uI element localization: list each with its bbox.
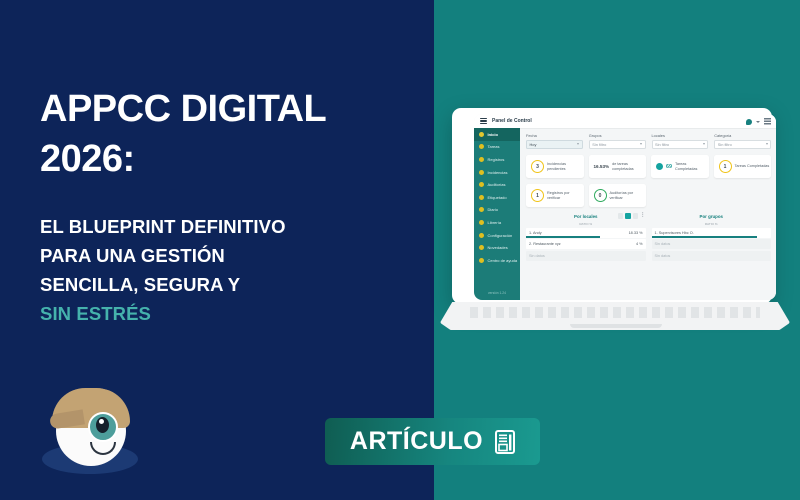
- labeling-icon: [479, 195, 484, 200]
- headline-line-2: 2026:: [40, 134, 420, 184]
- table-row[interactable]: 1. Supervisores Hbc O.: [652, 228, 772, 238]
- table-row[interactable]: 1. Andy 18.33 %: [526, 228, 646, 238]
- table-row-empty: Sin datos: [652, 239, 772, 249]
- records-icon: [479, 157, 484, 162]
- kpi-value: 0: [594, 189, 607, 202]
- panel-toolbar: ⋮: [618, 213, 646, 219]
- article-document-icon: [495, 430, 515, 454]
- help-icon: [479, 258, 484, 263]
- subheadline: EL BLUEPRINT DEFINITIVO PARA UNA GESTIÓN…: [40, 212, 400, 328]
- filter-select[interactable]: Sin filtro: [714, 140, 771, 150]
- chevron-down-icon: [577, 143, 579, 145]
- table-row[interactable]: 2. Restaurante xyz 4 %: [526, 239, 646, 249]
- row-label: 2. Restaurante xyz: [529, 242, 561, 246]
- dashboard-sidebar: Inicio Tareas Registros Incidencias: [474, 128, 520, 300]
- sidebar-item-inicio[interactable]: Inicio: [474, 128, 520, 141]
- sidebar-item-tareas[interactable]: Tareas: [474, 141, 520, 154]
- chevron-down-icon: [703, 143, 705, 145]
- chevron-down-icon[interactable]: [756, 121, 760, 123]
- panel-subtitle: RATIO %: [526, 222, 646, 226]
- filter-value: Sin filtro: [655, 142, 669, 147]
- laptop-mockup: Panel de Control Inicio: [440, 108, 790, 333]
- sidebar-item-label: Configuración: [488, 233, 513, 238]
- laptop-keyboard: [470, 307, 760, 318]
- sidebar-item-label: Registros: [488, 157, 505, 162]
- kpi-label: de tareas completadas: [612, 162, 646, 172]
- kpi-row-1: 3 Incidencias pendientes 16.53% de tarea…: [526, 155, 771, 178]
- sidebar-item-incidencias[interactable]: Incidencias: [474, 166, 520, 179]
- kpi-card-registros-por-verificar[interactable]: 1 Registros por verificar: [526, 184, 584, 207]
- sidebar-item-libreria[interactable]: Librería: [474, 216, 520, 229]
- filter-label: Fecha: [526, 133, 583, 138]
- kpi-value: 69: [666, 164, 672, 170]
- row-value: 4 %: [636, 242, 643, 246]
- bar-chart-icon[interactable]: [625, 213, 631, 219]
- library-icon: [479, 220, 484, 225]
- panel-por-locales: Por locales ⋮ RATIO %: [526, 214, 646, 262]
- sidebar-item-auditorias[interactable]: Auditorías: [474, 178, 520, 191]
- mascot-glint: [99, 419, 104, 424]
- sidebar-item-label: Novedades: [488, 245, 508, 250]
- filter-value: Sin filtro: [718, 142, 732, 147]
- subheadline-accent: SIN ESTRÉS: [40, 299, 400, 328]
- laptop-screen: Panel de Control Inicio: [474, 114, 776, 300]
- kpi-label: Incidencias pendientes: [547, 162, 584, 172]
- sidebar-item-label: Inicio: [488, 132, 498, 137]
- panel-por-grupos: Por grupos RATIO % 1. Supervisores Hbc O…: [652, 214, 772, 262]
- filter-grupos: Grupos Sin filtro: [589, 133, 646, 149]
- sidebar-item-label: Centro de ayuda: [488, 258, 518, 263]
- diary-icon: [479, 207, 484, 212]
- sidebar-item-novedades[interactable]: Novedades: [474, 241, 520, 254]
- kpi-label: Tareas Completadas: [675, 162, 709, 172]
- gear-icon: [479, 233, 484, 238]
- promo-banner: APPCC DIGITAL 2026: EL BLUEPRINT DEFINIT…: [0, 0, 800, 500]
- kpi-label: Auditorías por verificar: [610, 191, 647, 201]
- kpi-card-auditorias-por-verificar[interactable]: 0 Auditorías por verificar: [589, 184, 647, 207]
- filter-value: Hoy: [530, 142, 537, 147]
- panel-subtitle: RATIO %: [652, 222, 772, 226]
- headline: APPCC DIGITAL 2026:: [40, 84, 420, 184]
- headline-line-1: APPCC DIGITAL: [40, 84, 420, 134]
- dashboard-topbar: Panel de Control: [474, 114, 776, 129]
- laptop-lid: Panel de Control Inicio: [452, 108, 772, 304]
- filter-label: Grupos: [589, 133, 646, 138]
- table-row-empty: Sin datos: [526, 251, 646, 261]
- expand-icon[interactable]: [618, 213, 624, 219]
- panel-title-wrap: Por locales ⋮: [526, 214, 646, 220]
- tasks-icon: [479, 144, 484, 149]
- row-value: 18.33 %: [629, 231, 643, 235]
- filter-label: Locales: [652, 133, 709, 138]
- filter-value: Sin filtro: [592, 142, 606, 147]
- filter-fecha: Fecha Hoy: [526, 133, 583, 149]
- hamburger-menu-icon[interactable]: [480, 118, 487, 124]
- chevron-down-icon: [640, 143, 642, 145]
- topbar-actions: [746, 118, 771, 125]
- table-icon[interactable]: [633, 213, 639, 219]
- sidebar-item-configuracion[interactable]: Configuración: [474, 229, 520, 242]
- dashboard-title: Panel de Control: [492, 118, 532, 124]
- phone-support-icon[interactable]: [746, 119, 752, 125]
- sidebar-item-label: Librería: [488, 220, 502, 225]
- sidebar-item-registros[interactable]: Registros: [474, 153, 520, 166]
- filter-locales: Locales Sin filtro: [652, 133, 709, 149]
- row-bar: [652, 236, 757, 237]
- more-options-icon[interactable]: ⋮: [640, 213, 646, 219]
- filter-select[interactable]: Sin filtro: [652, 140, 709, 150]
- filter-select[interactable]: Sin filtro: [589, 140, 646, 150]
- sidebar-item-etiquetado[interactable]: Etiquetado: [474, 191, 520, 204]
- dashboard: Panel de Control Inicio: [474, 114, 776, 300]
- chart-panels: Por locales ⋮ RATIO %: [526, 214, 771, 262]
- chevron-down-icon: [766, 143, 768, 145]
- kpi-value: 1: [531, 189, 544, 202]
- subheadline-line-2: PARA UNA GESTIÓN: [40, 241, 400, 270]
- kpi-label: Tareas Completadas: [735, 164, 770, 169]
- row-label: Sin datos: [529, 254, 545, 258]
- panel-title: Por grupos: [700, 214, 723, 219]
- filter-categoria: Categoría Sin filtro: [714, 133, 771, 149]
- row-label: Sin datos: [655, 254, 671, 258]
- kpi-card-extra[interactable]: 1 Tareas Completadas: [714, 155, 772, 178]
- incidents-icon: [479, 170, 484, 175]
- sidebar-item-label: Tareas: [488, 144, 500, 149]
- sidebar-item-label: Auditorías: [488, 182, 506, 187]
- kpi-spacer: [714, 184, 772, 207]
- eye-mascot-icon: [38, 384, 142, 480]
- sidebar-item-diario[interactable]: Diario: [474, 204, 520, 217]
- kpi-spacer: [651, 184, 709, 207]
- panel-title: Por locales: [574, 214, 597, 219]
- apps-grid-icon[interactable]: [764, 118, 771, 125]
- row-label: 1. Supervisores Hbc O.: [655, 231, 694, 235]
- filter-select[interactable]: Hoy: [526, 140, 583, 150]
- row-label: Sin datos: [655, 242, 671, 246]
- home-icon: [479, 132, 484, 137]
- kpi-value: 1: [719, 160, 732, 173]
- kpi-card-tareas-completadas[interactable]: 69 Tareas Completadas: [651, 155, 709, 178]
- row-bar: [526, 236, 600, 237]
- table-row-empty: Sin datos: [652, 251, 772, 261]
- articulo-button[interactable]: ARTÍCULO: [325, 418, 540, 465]
- filter-bar: Fecha Hoy Grupos Sin filtro: [526, 133, 771, 149]
- audits-icon: [479, 182, 484, 187]
- articulo-button-label: ARTÍCULO: [350, 427, 483, 456]
- sidebar-item-label: Incidencias: [488, 170, 508, 175]
- panel-title-wrap: Por grupos: [652, 214, 772, 220]
- kpi-label: Registros por verificar: [547, 191, 584, 201]
- subheadline-line-1: EL BLUEPRINT DEFINITIVO: [40, 212, 400, 241]
- sidebar-item-centro-de-ayuda[interactable]: Centro de ayuda: [474, 254, 520, 267]
- kpi-row-2: 1 Registros por verificar 0 Auditorías p…: [526, 184, 771, 207]
- kpi-value: 3: [531, 160, 544, 173]
- sidebar-version: versión 1.24: [474, 291, 520, 295]
- sidebar-item-label: Diario: [488, 207, 498, 212]
- kpi-value: 16.53%: [594, 164, 610, 169]
- news-icon: [479, 245, 484, 250]
- row-label: 1. Andy: [529, 231, 542, 235]
- subheadline-line-3: SENCILLA, SEGURA Y: [40, 270, 400, 299]
- kpi-card-tareas-completadas-pct[interactable]: 16.53% de tareas completadas: [589, 155, 647, 178]
- laptop-trackpad-lip: [570, 324, 662, 328]
- kpi-card-incidencias-pendientes[interactable]: 3 Incidencias pendientes: [526, 155, 584, 178]
- check-circle-icon: [656, 163, 663, 170]
- dashboard-content: Fecha Hoy Grupos Sin filtro: [520, 128, 776, 300]
- sidebar-item-label: Etiquetado: [488, 195, 507, 200]
- filter-label: Categoría: [714, 133, 771, 138]
